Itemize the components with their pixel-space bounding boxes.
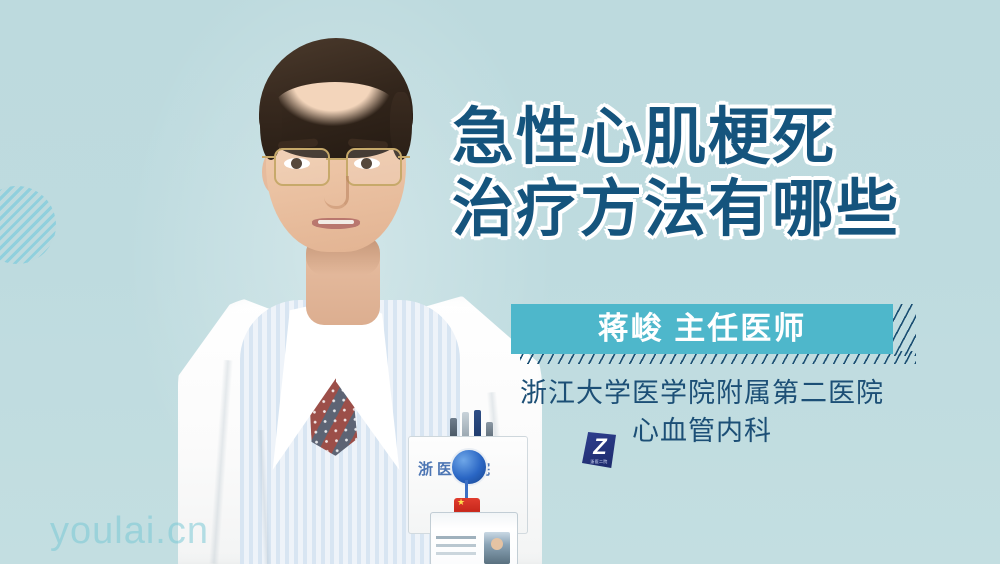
site-watermark: youlai.cn — [50, 510, 209, 553]
id-badge-text-lines — [436, 536, 476, 539]
mouth — [312, 218, 360, 229]
video-thumbnail-card: 浙医二院 Z 浙医二院 急性心肌梗死 治疗方法有哪些 蒋峻 主任医师 浙江大学医… — [0, 0, 1000, 564]
nose — [324, 176, 349, 209]
video-title: 急性心肌梗死 治疗方法有哪些 — [452, 102, 952, 246]
hair — [259, 38, 413, 158]
doctor-name-label: 蒋峻 主任医师 — [511, 304, 893, 354]
eyeglass-temple-right — [398, 156, 410, 158]
department-name: 心血管内科 — [452, 412, 952, 450]
eyeglass-lens-right — [346, 148, 402, 186]
eyeglass-temple-left — [262, 156, 274, 158]
eyeglass-lens-left — [274, 148, 330, 186]
doctor-portrait-photo: 浙医二院 Z 浙医二院 — [120, 0, 540, 564]
title-line-1: 急性心肌梗死 — [452, 102, 952, 174]
badge-reel-icon — [450, 448, 488, 486]
hospital-name: 浙江大学医学院附属第二医院 — [452, 374, 952, 412]
hatch-block-right — [893, 304, 916, 356]
eyeglass-bridge — [326, 158, 346, 160]
shoulder-patch-subtext: 浙医二院 — [582, 459, 616, 465]
id-badge-photo — [484, 532, 510, 564]
title-line-2: 治疗方法有哪些 — [452, 174, 952, 246]
